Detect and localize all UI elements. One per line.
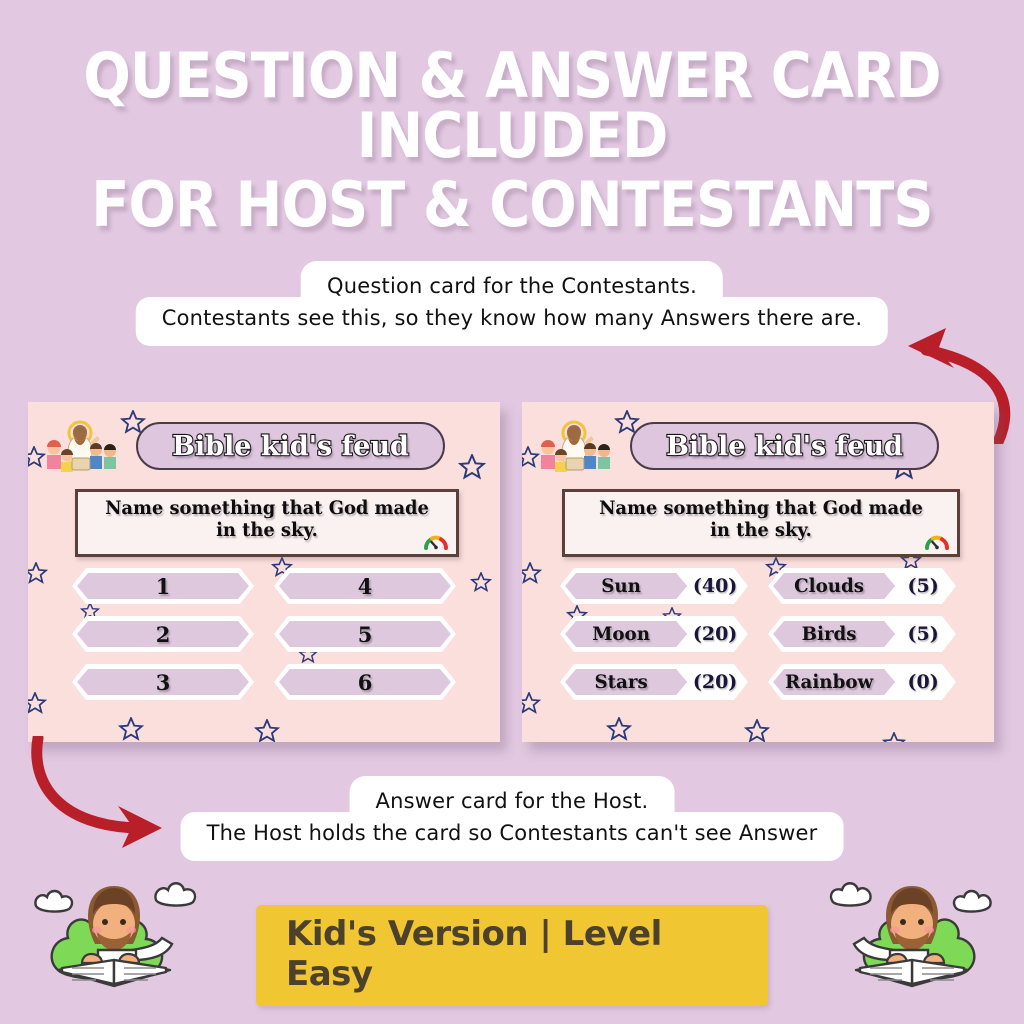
slot-number: 6 bbox=[274, 664, 456, 700]
star-icon bbox=[470, 572, 492, 594]
answer-name: Sun bbox=[562, 568, 679, 604]
question-card[interactable]: Bible kid's feud Name something that God… bbox=[28, 402, 500, 742]
answer-score: (0) bbox=[890, 664, 956, 700]
card-title: Bible kid's feud bbox=[666, 431, 903, 462]
gauge-icon bbox=[423, 531, 449, 551]
card-header: Bible kid's feud bbox=[522, 416, 994, 474]
answer-name: Stars bbox=[562, 664, 679, 700]
star-icon bbox=[28, 692, 47, 716]
star-icon bbox=[28, 562, 48, 586]
slot-number: 1 bbox=[72, 568, 254, 604]
jesus-reading-book-icon bbox=[798, 858, 998, 1006]
answer-name: Moon bbox=[562, 616, 679, 652]
card-title-pill: Bible kid's feud bbox=[136, 422, 445, 470]
answer-name: Clouds bbox=[770, 568, 887, 604]
answer-item[interactable]: Birds (5) bbox=[768, 616, 956, 652]
slot-number: 5 bbox=[274, 616, 456, 652]
answer-slot[interactable]: 5 bbox=[274, 616, 456, 652]
star-icon bbox=[118, 717, 144, 742]
card-header: Bible kid's feud bbox=[28, 416, 500, 474]
answer-slot[interactable]: 6 bbox=[274, 664, 456, 700]
star-icon bbox=[522, 562, 542, 586]
star-icon bbox=[882, 732, 906, 742]
answer-item[interactable]: Sun (40) bbox=[560, 568, 748, 604]
page-title: QUESTION & ANSWER CARD INCLUDED FOR HOST… bbox=[0, 46, 1024, 235]
question-box: Name something that God made in the sky. bbox=[562, 489, 960, 557]
gauge-icon bbox=[924, 531, 950, 551]
question-text: Name something that God made in the sky. bbox=[99, 498, 436, 542]
answer-name: Birds bbox=[770, 616, 887, 652]
question-text: Name something that God made in the sky. bbox=[586, 498, 936, 542]
callout-top-line-2: Contestants see this, so they know how m… bbox=[136, 297, 888, 346]
answer-item[interactable]: Stars (20) bbox=[560, 664, 748, 700]
version-badge-label: Kid's Version | Level Easy bbox=[286, 914, 662, 994]
callout-bottom-line-2: The Host holds the card so Contestants c… bbox=[181, 812, 844, 861]
answer-slot[interactable]: 1 bbox=[72, 568, 254, 604]
poster-canvas: QUESTION & ANSWER CARD INCLUDED FOR HOST… bbox=[0, 0, 1024, 1024]
star-icon bbox=[522, 692, 541, 716]
answer-score: (5) bbox=[890, 568, 956, 604]
answer-grid: Sun (40) Clouds (5) Moon (20) Birds (5) … bbox=[560, 568, 956, 700]
callout-top: Question card for the Contestants. Conte… bbox=[136, 261, 888, 346]
callout-bottom: Answer card for the Host. The Host holds… bbox=[181, 776, 844, 861]
jesus-with-children-icon bbox=[530, 420, 622, 476]
page-title-line-2: FOR HOST & CONTESTANTS bbox=[51, 175, 973, 235]
curved-arrow-down-right-icon bbox=[16, 736, 196, 856]
answer-card[interactable]: Bible kid's feud Name something that God… bbox=[522, 402, 994, 742]
answer-score: (5) bbox=[890, 616, 956, 652]
card-title: Bible kid's feud bbox=[172, 431, 409, 462]
answer-slot[interactable]: 4 bbox=[274, 568, 456, 604]
answer-slot[interactable]: 2 bbox=[72, 616, 254, 652]
answer-score: (20) bbox=[682, 664, 748, 700]
answer-item[interactable]: Moon (20) bbox=[560, 616, 748, 652]
answer-score: (20) bbox=[682, 616, 748, 652]
question-box: Name something that God made in the sky. bbox=[75, 489, 459, 557]
answer-name: Rainbow bbox=[770, 664, 887, 700]
jesus-reading-book-icon bbox=[28, 858, 228, 1006]
answer-item[interactable]: Rainbow (0) bbox=[768, 664, 956, 700]
answer-slot-grid: 1 4 2 5 3 6 bbox=[72, 568, 456, 700]
jesus-with-children-icon bbox=[36, 420, 128, 476]
answer-slot[interactable]: 3 bbox=[72, 664, 254, 700]
star-icon bbox=[744, 719, 770, 742]
page-title-line-1: QUESTION & ANSWER CARD INCLUDED bbox=[51, 46, 973, 165]
slot-number: 4 bbox=[274, 568, 456, 604]
card-title-pill: Bible kid's feud bbox=[630, 422, 939, 470]
version-badge: Kid's Version | Level Easy bbox=[256, 905, 768, 1006]
answer-item[interactable]: Clouds (5) bbox=[768, 568, 956, 604]
answer-score: (40) bbox=[682, 568, 748, 604]
star-icon bbox=[254, 719, 280, 742]
star-icon bbox=[606, 717, 632, 742]
slot-number: 2 bbox=[72, 616, 254, 652]
slot-number: 3 bbox=[72, 664, 254, 700]
